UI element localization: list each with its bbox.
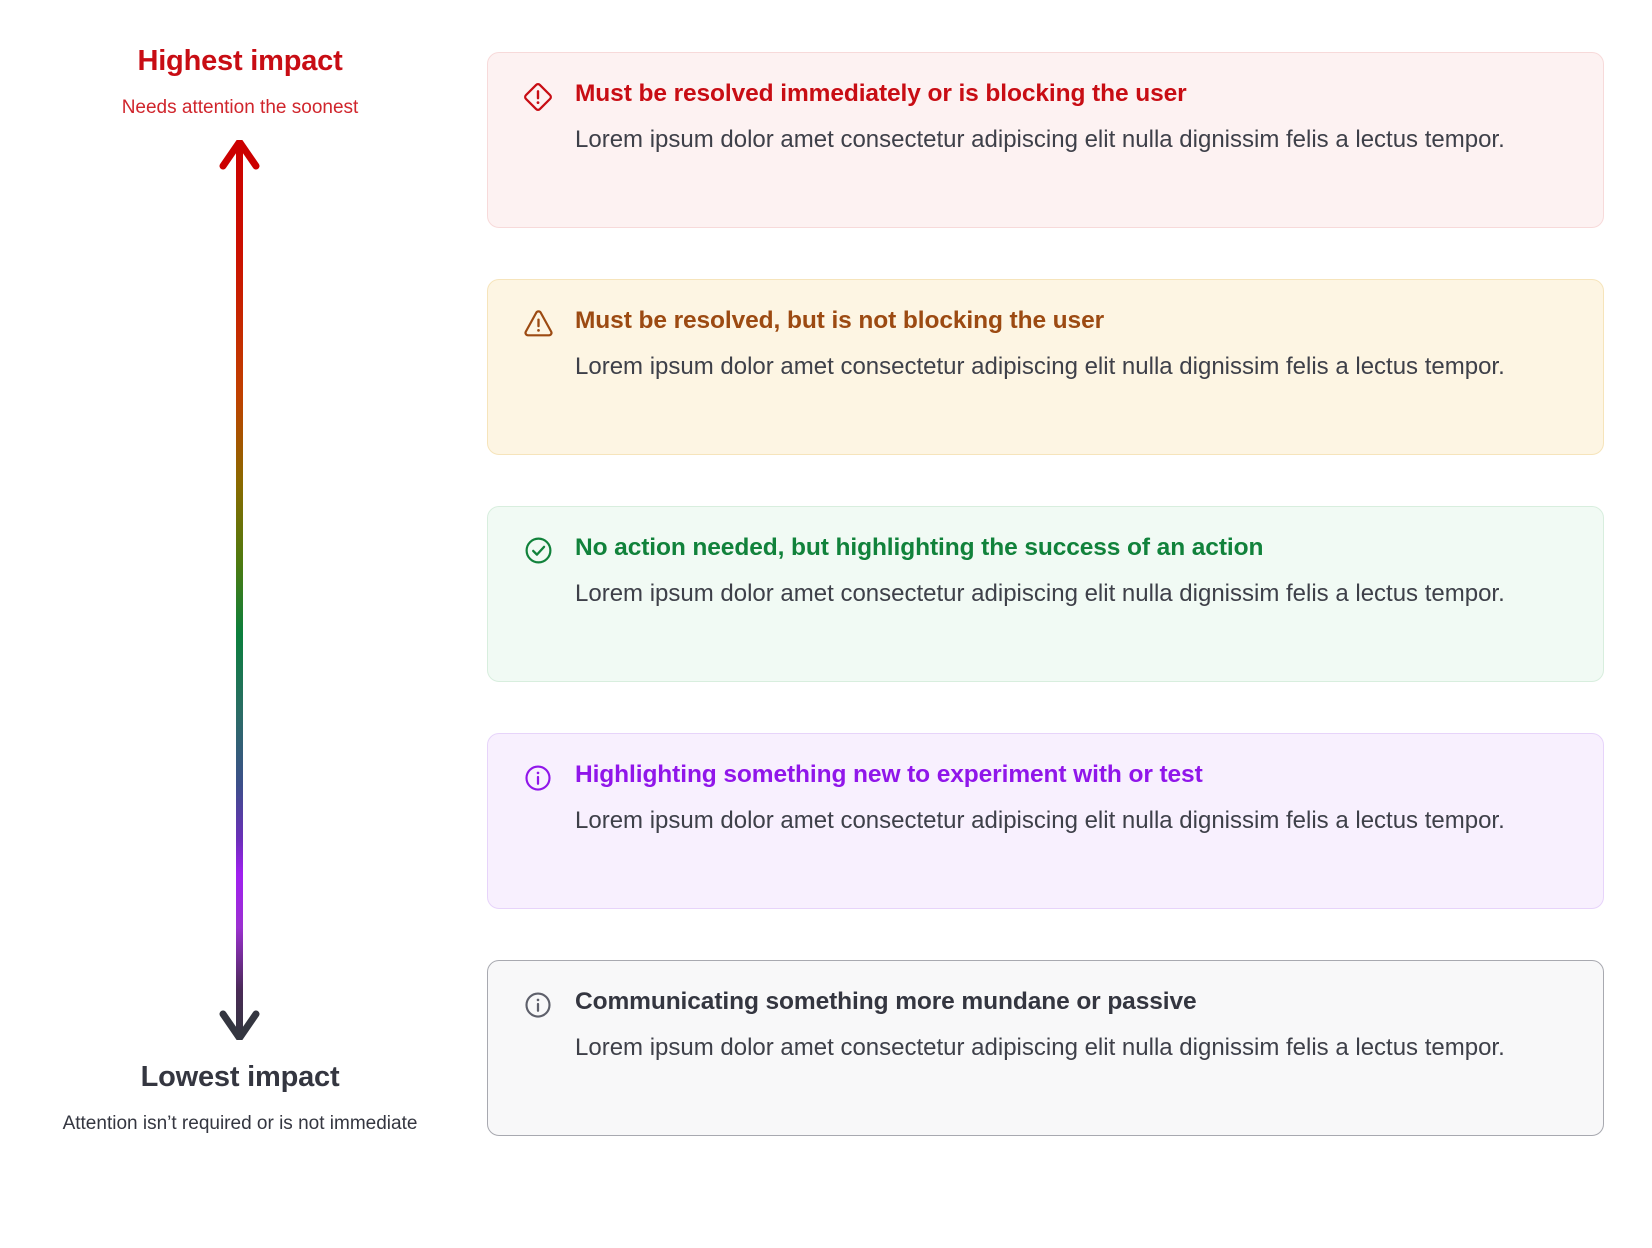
scale-top-labels: Highest impact Needs attention the soone…	[0, 44, 480, 120]
diamond-exclamation-icon	[518, 80, 558, 113]
impact-scale: Highest impact Needs attention the soone…	[0, 0, 480, 1248]
card-description: Lorem ipsum dolor amet consectetur adipi…	[575, 802, 1505, 841]
severity-card-warning: Must be resolved, but is not blocking th…	[487, 279, 1604, 455]
card-description: Lorem ipsum dolor amet consectetur adipi…	[575, 575, 1505, 614]
triangle-exclamation-icon	[518, 307, 558, 340]
card-title: Communicating something more mundane or …	[575, 987, 1573, 1018]
card-description: Lorem ipsum dolor amet consectetur adipi…	[575, 1029, 1505, 1068]
card-title: Must be resolved immediately or is block…	[575, 79, 1573, 110]
highest-impact-subtitle: Needs attention the soonest	[0, 96, 480, 120]
circle-info-icon	[518, 761, 558, 794]
card-title: Must be resolved, but is not blocking th…	[575, 306, 1573, 337]
card-description: Lorem ipsum dolor amet consectetur adipi…	[575, 348, 1505, 387]
circle-info-icon	[518, 988, 558, 1021]
card-body: Must be resolved, but is not blocking th…	[575, 306, 1573, 387]
severity-card-list: Must be resolved immediately or is block…	[487, 52, 1604, 1136]
severity-card-critical: Must be resolved immediately or is block…	[487, 52, 1604, 228]
card-body: No action needed, but highlighting the s…	[575, 533, 1573, 614]
lowest-impact-title: Lowest impact	[0, 1060, 480, 1095]
card-body: Highlighting something new to experiment…	[575, 760, 1573, 841]
severity-card-info: Highlighting something new to experiment…	[487, 733, 1604, 909]
card-title: No action needed, but highlighting the s…	[575, 533, 1573, 564]
highest-impact-title: Highest impact	[0, 44, 480, 79]
card-description: Lorem ipsum dolor amet consectetur adipi…	[575, 121, 1505, 160]
card-body: Must be resolved immediately or is block…	[575, 79, 1573, 160]
lowest-impact-subtitle: Attention isn’t required or is not immed…	[0, 1112, 480, 1136]
card-title: Highlighting something new to experiment…	[575, 760, 1573, 791]
severity-card-neutral: Communicating something more mundane or …	[487, 960, 1604, 1136]
impact-gradient-arrow	[211, 140, 269, 1040]
impact-gradient-arrow-svg	[211, 140, 269, 1040]
circle-check-icon	[518, 534, 558, 567]
severity-card-success: No action needed, but highlighting the s…	[487, 506, 1604, 682]
scale-bottom-labels: Lowest impact Attention isn’t required o…	[0, 1060, 480, 1136]
card-body: Communicating something more mundane or …	[575, 987, 1573, 1068]
